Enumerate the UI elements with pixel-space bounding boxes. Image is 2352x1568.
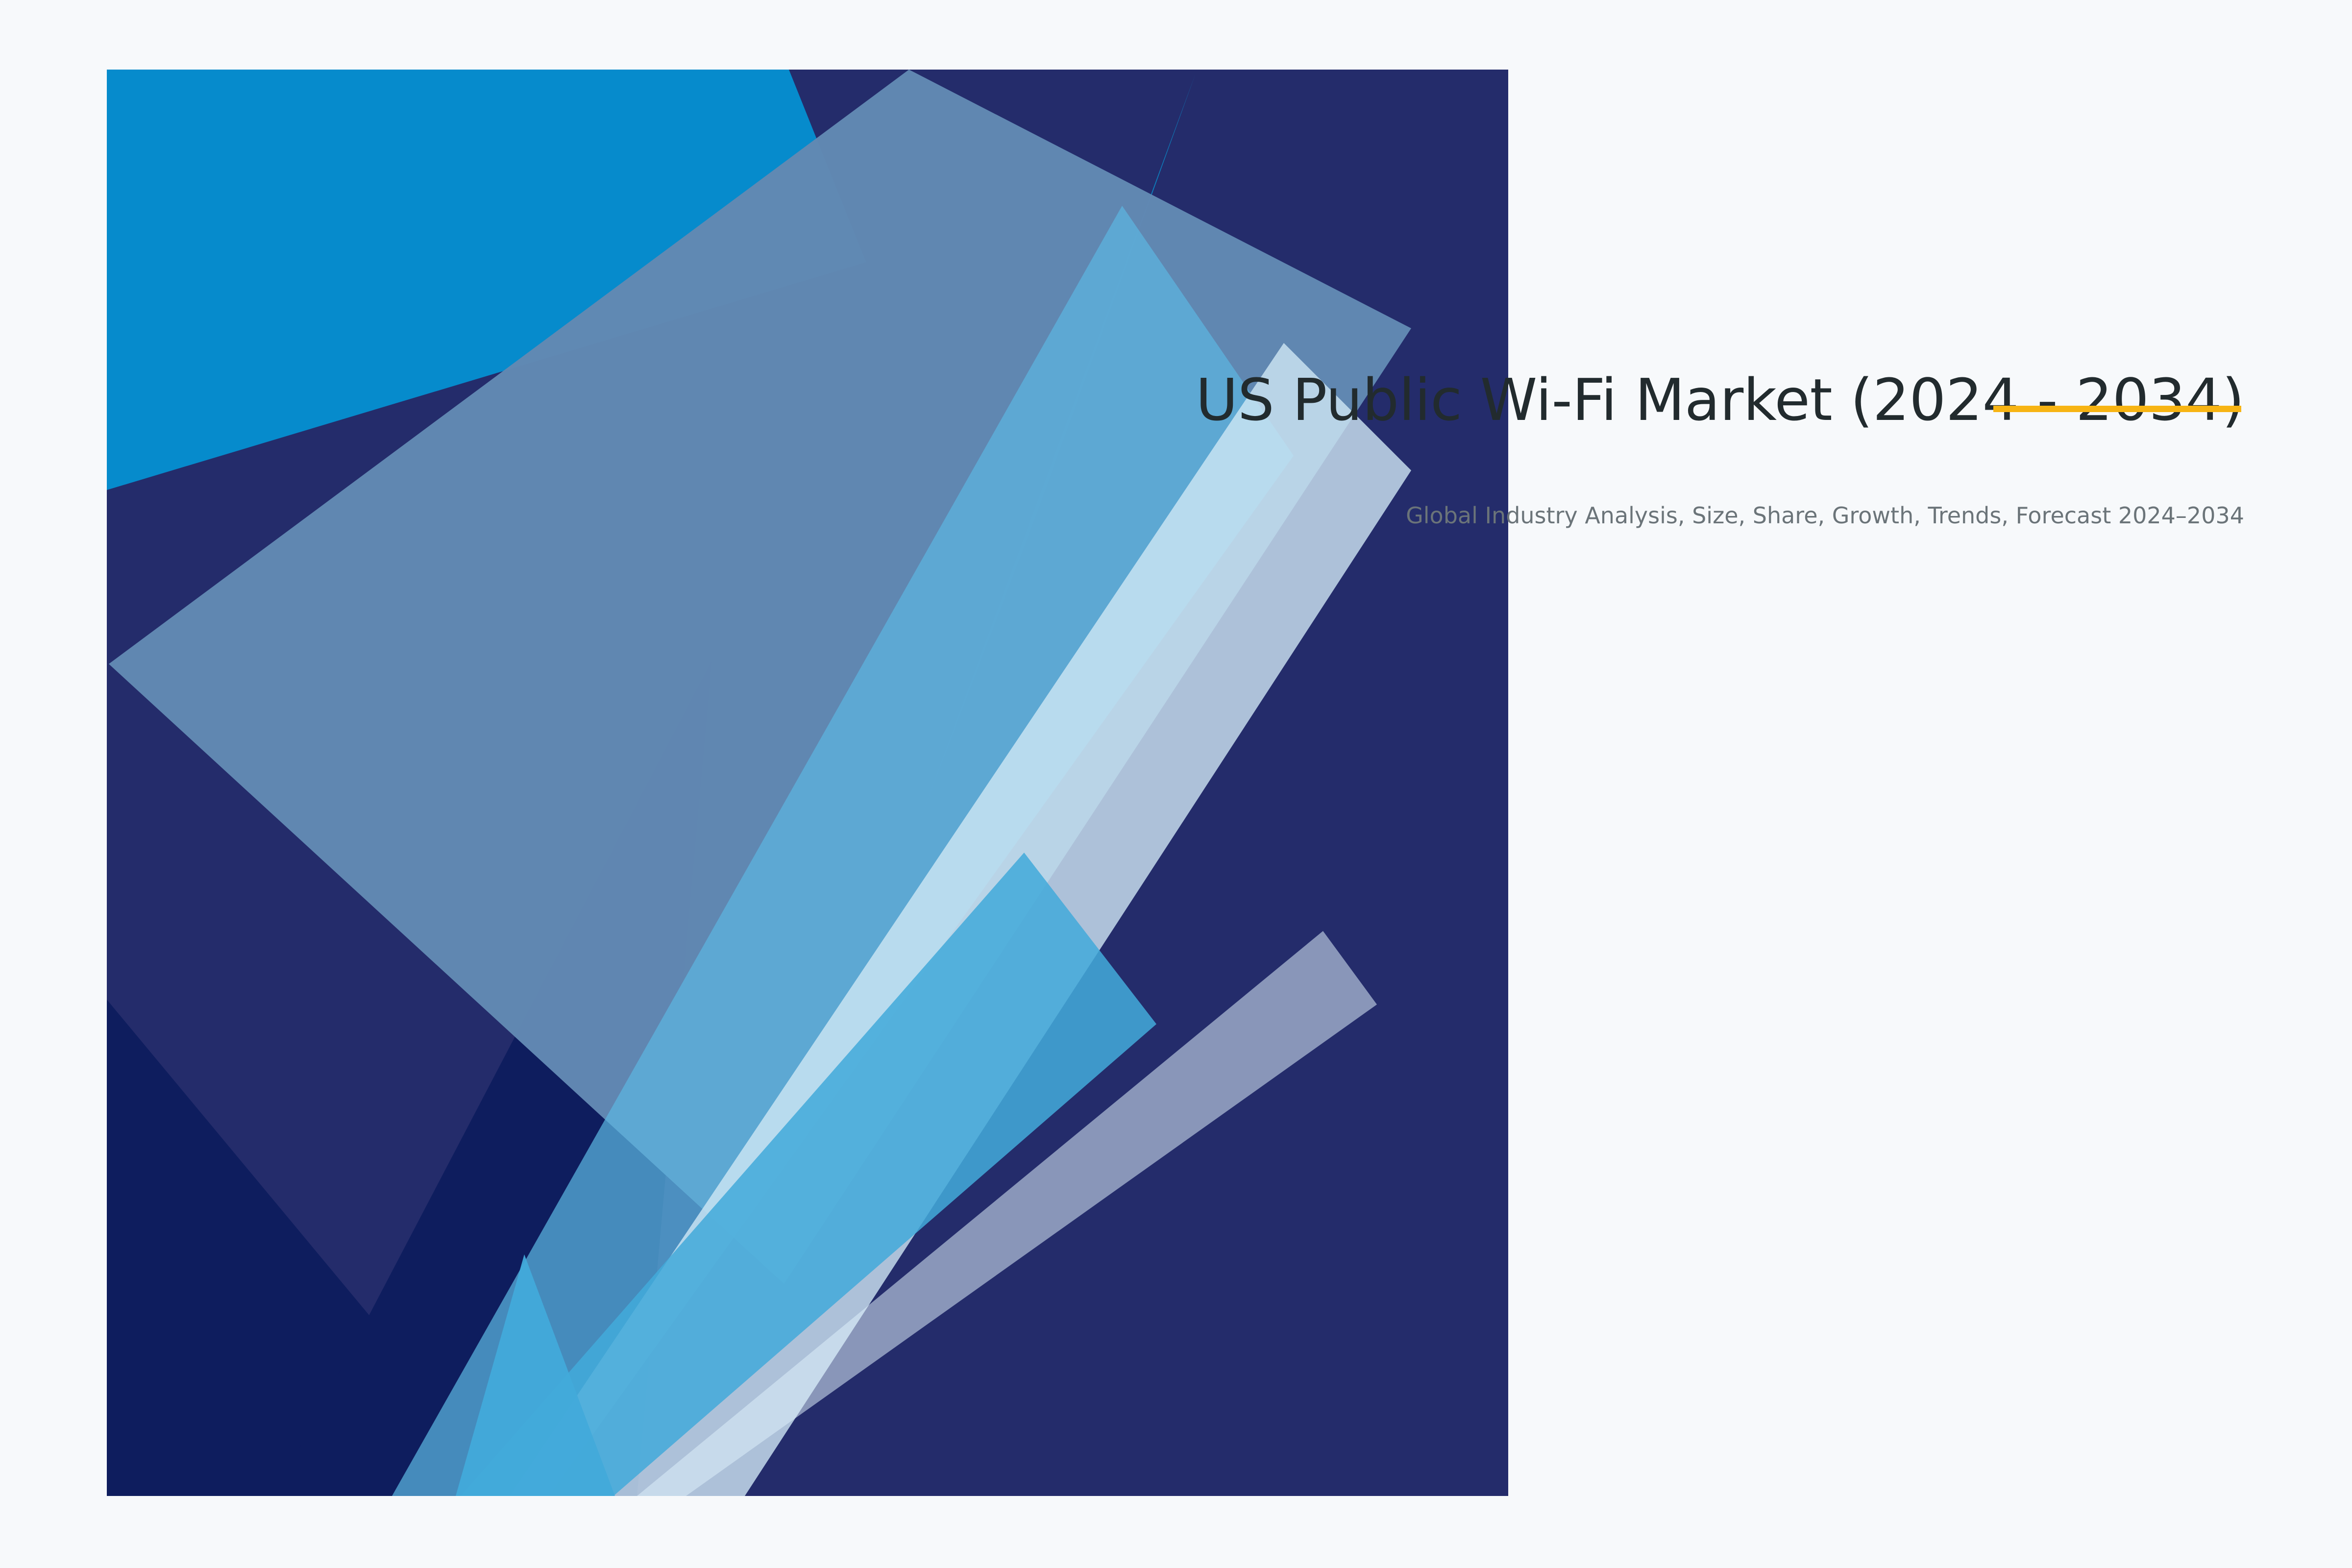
shape-dark-navy-spear [274, 661, 711, 1496]
page-subtitle: Global Industry Analysis, Size, Share, G… [1068, 500, 2244, 531]
decorative-polygon-artwork [0, 0, 2352, 1568]
shape-gray-blue-quad [109, 70, 1411, 1284]
shape-bright-blue-base [107, 70, 1508, 1496]
shape-dark-navy-lower-left [107, 1000, 519, 1496]
shape-sky-cyan-panel [461, 853, 1156, 1496]
slide-canvas: US Public Wi-Fi Market (2024 - 2034) Glo… [0, 0, 2352, 1568]
shape-navy-main-wedge [107, 70, 1508, 1496]
shape-pale-sliver [637, 931, 1377, 1496]
title-text-block: US Public Wi-Fi Market (2024 - 2034) Glo… [1068, 363, 2244, 532]
page-title: US Public Wi-Fi Market (2024 - 2034) [1068, 363, 2244, 438]
page-title-wrapper: US Public Wi-Fi Market (2024 - 2034) [1068, 363, 2244, 438]
title-accent-underline [1993, 406, 2241, 412]
shape-cyan-notch-bottom [456, 1254, 615, 1496]
